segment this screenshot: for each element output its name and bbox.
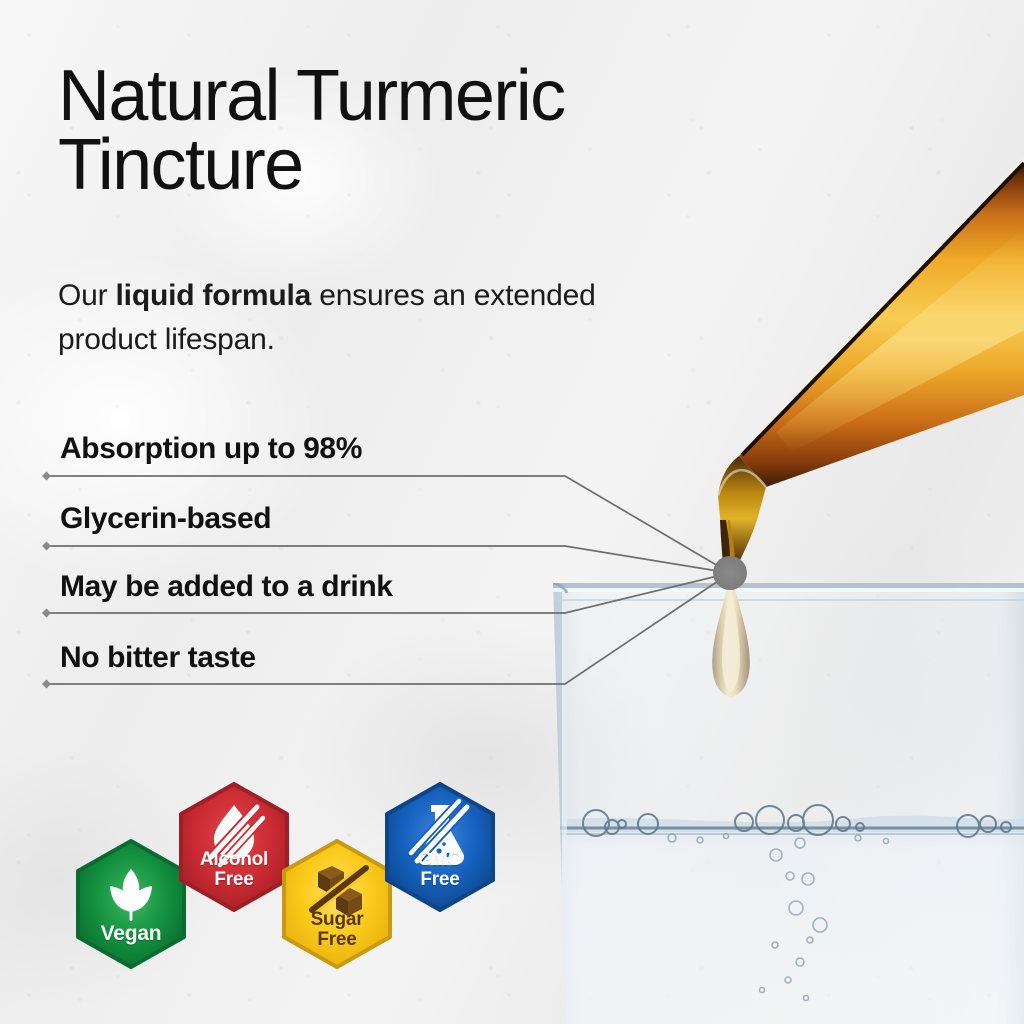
badge-sugar-free: Sugar Free: [278, 838, 396, 970]
product-infographic: Natural Turmeric Tincture Our liquid for…: [0, 0, 1024, 1024]
badge-alcohol-hex: [175, 781, 293, 913]
badge-gmo-free: GMO Free: [381, 781, 499, 913]
badge-sugar-hex: [278, 838, 396, 970]
certification-badges: Vegan: [0, 0, 1024, 1024]
badge-gmo-hex: [381, 781, 499, 913]
badge-vegan-hex: [72, 838, 190, 970]
badge-vegan: Vegan: [72, 838, 190, 970]
badge-alcohol-free: Alcohol Free: [175, 781, 293, 913]
